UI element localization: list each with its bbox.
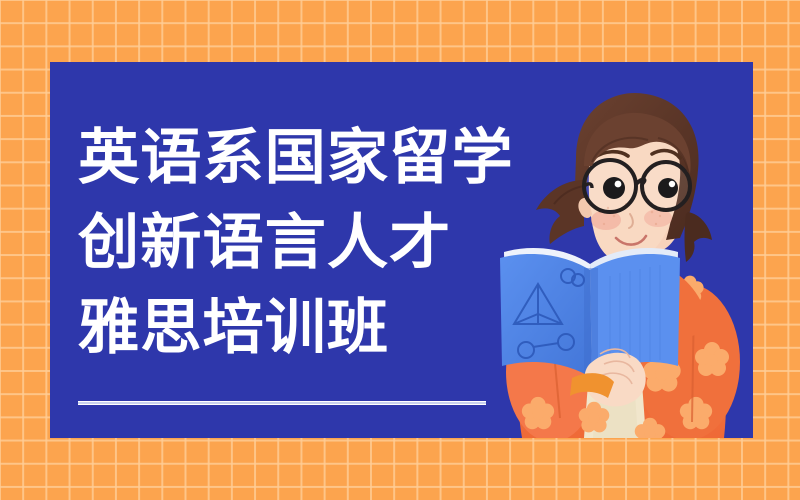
blue-content-panel: 英语系国家留学 创新语言人才 雅思培训班 [50,62,753,438]
girl-reading-book-illustration [480,62,753,438]
headline-line-2: 创新语言人才 [78,201,514,286]
headline-line-1: 英语系国家留学 [78,116,514,201]
poster-canvas: 英语系国家留学 创新语言人才 雅思培训班 [0,0,800,500]
headline-block: 英语系国家留学 创新语言人才 雅思培训班 [78,116,505,371]
headline-line-3: 雅思培训班 [78,286,514,371]
divider-rule [78,401,486,405]
